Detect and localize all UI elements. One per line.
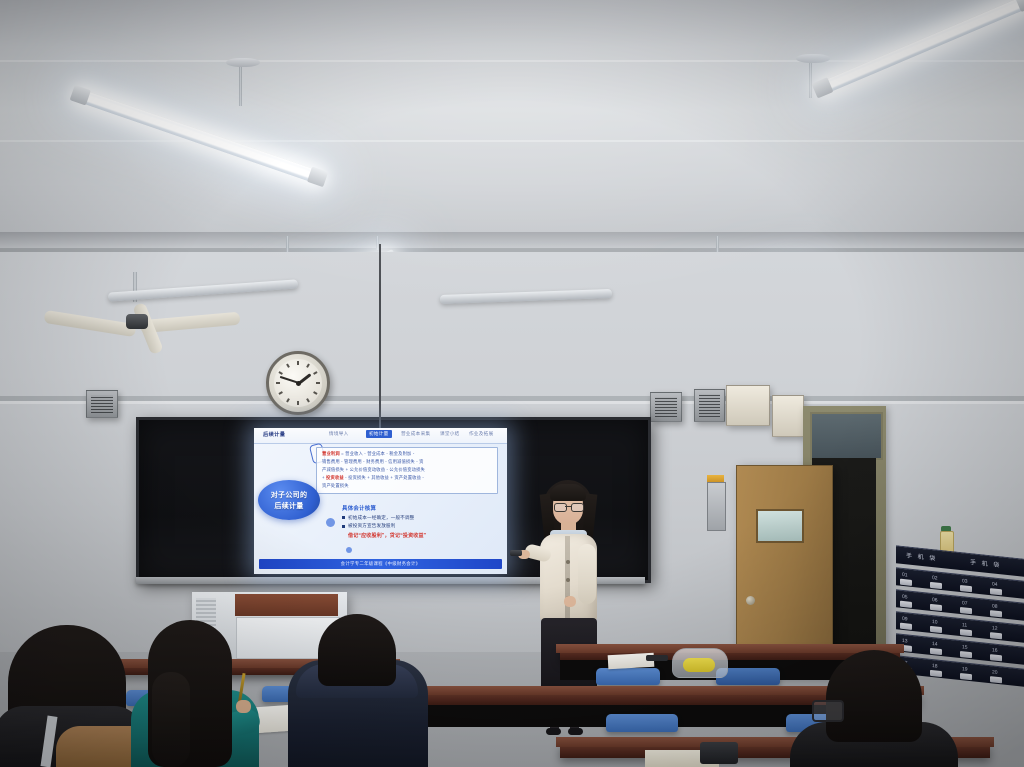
bullets-heading: 具体会计核算: [342, 504, 492, 512]
classroom-chair: [606, 714, 678, 732]
rack-slot-number: 01: [902, 572, 908, 579]
student-navy-hair: [318, 614, 396, 686]
student-hand: [236, 700, 251, 713]
rack-slot-number: 12: [992, 625, 998, 632]
door-window: [756, 509, 804, 543]
rack-slot-number: 06: [932, 597, 938, 604]
ceiling-fan: [82, 300, 267, 358]
podium-wood-top: [235, 594, 338, 616]
slide-tab-4[interactable]: 作业及拓展: [469, 431, 493, 437]
slide-tab-1[interactable]: 初始计量: [366, 430, 392, 438]
rack-slot-number: 04: [992, 581, 998, 588]
formula-text: - 投资损失 + 其他收益 + 资产处置收益 -: [344, 475, 424, 480]
rack-slot-number: 05: [902, 594, 908, 601]
rack-slot-number: 02: [932, 575, 938, 582]
lamp-ceiling-plate: [226, 58, 260, 67]
formula-text: = 营业收入 - 营业成本 - 税金及附加 -: [340, 451, 415, 456]
bullet-item: 被投资方宣告发放股利: [342, 523, 492, 529]
bullet-red-note: 借记“应收股利”，贷记“投资收益”: [348, 532, 492, 539]
projected-slide: 后续计量 情境导入 初始计量 营业成本采集 课堂小结 作业及拓展 营业利润 = …: [254, 428, 507, 574]
classroom-photo: 后续计量 情境导入 初始计量 营业成本采集 课堂小结 作业及拓展 营业利润 = …: [0, 0, 1024, 767]
wall-trim-highlight: [0, 401, 1024, 404]
wall-alarm-box: [707, 482, 726, 531]
decorative-dot: [326, 518, 335, 527]
projector-cable: [379, 244, 381, 430]
slide-header-rule: [254, 443, 507, 444]
glasses-icon: [554, 503, 567, 512]
phone-on-desk: [646, 655, 668, 661]
rack-slot-number: 07: [962, 600, 968, 607]
slide-tab-3[interactable]: 课堂小结: [440, 431, 460, 437]
wall-control-box: [694, 389, 725, 422]
glasses-icon: [571, 503, 584, 512]
ceiling-beam: [0, 232, 1024, 248]
slide-header-title: 后续计量: [263, 431, 285, 438]
rack-slot-number: 09: [902, 616, 908, 623]
ellipse-line-1: 对子公司的: [258, 490, 320, 500]
formula-term-red: 营业利润: [322, 451, 340, 456]
slide-topic-ellipse: 对子公司的 后续计量: [258, 480, 320, 520]
desk-surface: [556, 644, 904, 653]
lamp-rod: [809, 58, 812, 98]
rack-slot-number: 14: [932, 641, 938, 648]
glasses-icon: [812, 700, 844, 722]
wall-equipment-box: [726, 385, 770, 426]
rack-slot-number: 19: [962, 666, 968, 673]
lamp-ceiling-plate: [796, 54, 830, 63]
formula-text: 产减值损失 + 公允价值变动收益 - 公允价值变动损失: [322, 467, 425, 472]
ceiling-seam: [0, 140, 1024, 142]
bag-contents: [683, 658, 715, 672]
rack-slot-number: 10: [932, 619, 938, 626]
ellipse-line-2: 后续计量: [258, 501, 320, 511]
slide-footer-bar: 会计学专二年级课程《中级财务会计》: [259, 559, 502, 569]
rack-slot-number: 15: [962, 644, 968, 651]
formula-box: 营业利润 = 营业收入 - 营业成本 - 税金及附加 - 销售费用 - 管理费用…: [316, 447, 498, 494]
bullet-item: 初始成本一经确定，一般不调整: [342, 515, 492, 521]
rack-title-1: 手 机 袋: [906, 550, 937, 562]
formula-term-red: 投资收益: [326, 475, 344, 480]
wall-speaker: [650, 392, 682, 422]
rack-title-2: 手 机 袋: [970, 557, 1001, 569]
slide-tab-2[interactable]: 营业成本采集: [401, 431, 430, 437]
door-transom-window: [810, 412, 883, 460]
presenter-clicker: [510, 550, 522, 556]
phone-on-desk: [700, 742, 738, 764]
slide-footer-text: 会计学专二年级课程《中级财务会计》: [259, 561, 502, 567]
rack-slot-number: 11: [962, 622, 967, 629]
lamp-rod: [239, 62, 242, 106]
classroom-chair: [596, 668, 660, 685]
slide-tab-0[interactable]: 情境导入: [329, 431, 349, 437]
rack-slot-number: 16: [992, 647, 998, 654]
rack-slot-number: 18: [932, 663, 938, 670]
formula-text: 销售费用 - 管理费用 - 财务费用 - 信用减值损失 - 资: [322, 459, 424, 464]
rack-slot-number: 20: [992, 669, 998, 676]
wall-speaker: [86, 390, 118, 418]
student-ponytail: [152, 672, 190, 767]
slide-bullet-block: 具体会计核算 初始成本一经确定，一般不调整 被投资方宣告发放股利 借记“应收股利…: [342, 504, 492, 539]
wall-clock: [266, 351, 330, 415]
ceiling: [0, 0, 1024, 262]
rack-slot-number: 08: [992, 603, 998, 610]
wall-equipment-box: [772, 395, 804, 437]
rack-slot-number: 03: [962, 578, 968, 585]
decorative-dot: [346, 547, 352, 553]
door-knob[interactable]: [746, 596, 755, 605]
formula-text: 资产处置损失: [322, 483, 349, 488]
student-right-hair: [826, 650, 922, 742]
